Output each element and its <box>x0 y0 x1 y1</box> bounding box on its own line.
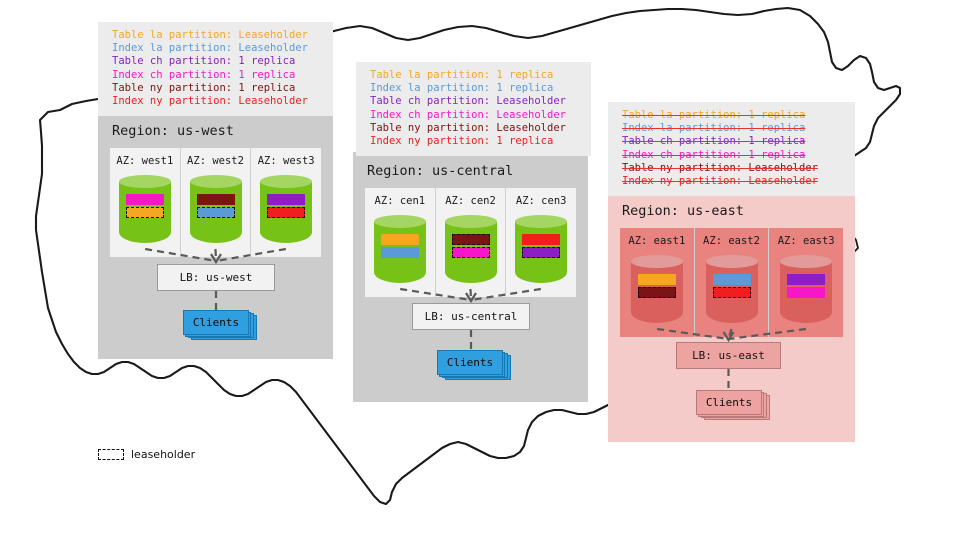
replica-bar <box>638 274 676 285</box>
replica-bar <box>522 234 560 245</box>
replica-bar <box>197 194 235 205</box>
az-east1[interactable]: AZ: east1 <box>620 228 695 337</box>
az-title: AZ: west3 <box>258 155 315 167</box>
replica-bar-leaseholder <box>267 207 305 218</box>
cylinder-top <box>706 255 758 268</box>
partition-replica-bars <box>787 274 825 298</box>
partition-info-line: Table ch partition: 1 replica <box>622 135 845 148</box>
replica-bar <box>381 234 419 245</box>
clients-us-west[interactable]: Clients <box>183 310 257 340</box>
partition-replica-bars <box>126 194 164 218</box>
az-title: AZ: west1 <box>116 155 173 167</box>
partition-info-line: Index la partition: 1 replica <box>370 82 581 95</box>
database-cylinder-icon[interactable] <box>190 175 242 247</box>
partition-replica-bars <box>197 194 235 218</box>
partition-info-panel-us-east: Table la partition: 1 replicaIndex la pa… <box>608 102 855 196</box>
partition-info-line: Index ny partition: 1 replica <box>370 135 581 148</box>
database-cylinder-icon[interactable] <box>374 215 426 287</box>
replica-bar-leaseholder <box>197 207 235 218</box>
cylinder-top <box>515 215 567 228</box>
partition-info-panel-us-central: Table la partition: 1 replicaIndex la pa… <box>356 62 591 156</box>
region-title: Region: us-central <box>353 152 588 188</box>
partition-replica-bars <box>452 234 490 258</box>
az-cen2[interactable]: AZ: cen2 <box>436 188 507 297</box>
database-cylinder-icon[interactable] <box>445 215 497 287</box>
partition-info-line: Index ny partition: Leaseholder <box>622 175 845 188</box>
cylinder-top <box>260 175 312 188</box>
clients-label: Clients <box>696 390 762 415</box>
database-cylinder-icon[interactable] <box>706 255 758 327</box>
replica-bar-leaseholder <box>452 247 490 258</box>
replica-bar <box>381 247 419 258</box>
replica-bar-leaseholder <box>522 247 560 258</box>
cylinder-top <box>374 215 426 228</box>
replica-bar-leaseholder <box>126 207 164 218</box>
replica-bar <box>126 194 164 205</box>
partition-replica-bars <box>267 194 305 218</box>
az-west1[interactable]: AZ: west1 <box>110 148 181 257</box>
az-east2[interactable]: AZ: east2 <box>695 228 770 337</box>
replica-bar <box>267 194 305 205</box>
cylinder-top <box>445 215 497 228</box>
partition-info-line: Index la partition: Leaseholder <box>112 42 323 55</box>
replica-bar-leaseholder <box>713 287 751 298</box>
partition-info-panel-us-west: Table la partition: LeaseholderIndex la … <box>98 22 333 116</box>
legend: leaseholder <box>98 448 195 461</box>
region-title: Region: us-west <box>98 112 333 148</box>
database-cylinder-icon[interactable] <box>260 175 312 247</box>
partition-info-line: Table la partition: Leaseholder <box>112 29 323 42</box>
az-title: AZ: east3 <box>778 235 835 247</box>
az-row: AZ: east1AZ: east2AZ: east3 <box>620 228 843 337</box>
clients-label: Clients <box>437 350 503 375</box>
replica-bar <box>787 274 825 285</box>
partition-info-line: Table ny partition: Leaseholder <box>622 162 845 175</box>
partition-info-line: Index ch partition: Leaseholder <box>370 109 581 122</box>
az-title: AZ: east1 <box>628 235 685 247</box>
replica-bar-leaseholder <box>638 287 676 298</box>
az-cen3[interactable]: AZ: cen3 <box>506 188 576 297</box>
clients-us-central[interactable]: Clients <box>437 350 511 380</box>
cylinder-top <box>190 175 242 188</box>
cylinder-top <box>780 255 832 268</box>
leaseholder-swatch-icon <box>98 449 124 460</box>
clients-us-east[interactable]: Clients <box>696 390 770 420</box>
partition-info-line: Table ny partition: 1 replica <box>112 82 323 95</box>
partition-info-line: Table ny partition: Leaseholder <box>370 122 581 135</box>
az-title: AZ: cen3 <box>516 195 567 207</box>
partition-replica-bars <box>713 274 751 298</box>
legend-label: leaseholder <box>131 448 195 461</box>
load-balancer-us-central[interactable]: LB: us-central <box>412 303 530 330</box>
az-title: AZ: cen2 <box>445 195 496 207</box>
clients-label: Clients <box>183 310 249 335</box>
az-cen1[interactable]: AZ: cen1 <box>365 188 436 297</box>
partition-replica-bars <box>638 274 676 298</box>
load-balancer-us-east[interactable]: LB: us-east <box>676 342 781 369</box>
az-east3[interactable]: AZ: east3 <box>769 228 843 337</box>
partition-info-line: Table ch partition: 1 replica <box>112 55 323 68</box>
partition-info-line: Table ch partition: Leaseholder <box>370 95 581 108</box>
partition-info-line: Table la partition: 1 replica <box>622 109 845 122</box>
cylinder-top <box>119 175 171 188</box>
partition-info-line: Table la partition: 1 replica <box>370 69 581 82</box>
az-title: AZ: east2 <box>703 235 760 247</box>
az-row: AZ: cen1AZ: cen2AZ: cen3 <box>365 188 576 297</box>
partition-info-line: Index la partition: 1 replica <box>622 122 845 135</box>
database-cylinder-icon[interactable] <box>780 255 832 327</box>
az-title: AZ: cen1 <box>375 195 426 207</box>
replica-bar <box>787 287 825 298</box>
az-west3[interactable]: AZ: west3 <box>251 148 321 257</box>
partition-replica-bars <box>381 234 419 258</box>
partition-replica-bars <box>522 234 560 258</box>
database-cylinder-icon[interactable] <box>631 255 683 327</box>
region-title: Region: us-east <box>608 192 855 228</box>
az-west2[interactable]: AZ: west2 <box>181 148 252 257</box>
replica-bar <box>713 274 751 285</box>
database-cylinder-icon[interactable] <box>515 215 567 287</box>
partition-info-line: Index ch partition: 1 replica <box>112 69 323 82</box>
az-title: AZ: west2 <box>187 155 244 167</box>
partition-info-line: Index ny partition: Leaseholder <box>112 95 323 108</box>
load-balancer-us-west[interactable]: LB: us-west <box>157 264 275 291</box>
az-row: AZ: west1AZ: west2AZ: west3 <box>110 148 321 257</box>
cylinder-top <box>631 255 683 268</box>
database-cylinder-icon[interactable] <box>119 175 171 247</box>
partition-info-line: Index ch partition: 1 replica <box>622 149 845 162</box>
replica-bar-leaseholder <box>452 234 490 245</box>
